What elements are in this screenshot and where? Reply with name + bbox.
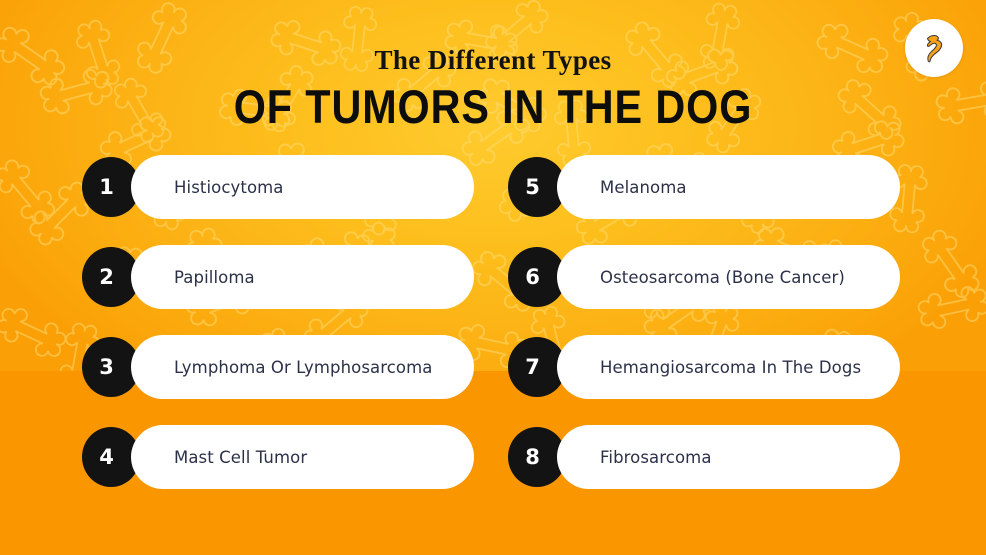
list-item[interactable]: 2 Papilloma: [82, 245, 474, 309]
item-label: Fibrosarcoma: [600, 448, 712, 467]
item-label: Papilloma: [174, 268, 255, 287]
heading-headline: OF TUMORS IN THE DOG: [59, 83, 927, 130]
item-number: 2: [99, 267, 114, 288]
item-label: Melanoma: [600, 178, 687, 197]
item-number: 7: [525, 357, 540, 378]
item-label: Osteosarcoma (Bone Cancer): [600, 268, 845, 287]
tumor-list-right-column: 5 Melanoma 6 Osteosarcoma (Bone Cancer) …: [508, 155, 900, 515]
item-pill[interactable]: Fibrosarcoma: [557, 425, 900, 489]
list-item[interactable]: 3 Lymphoma Or Lymphosarcoma: [82, 335, 474, 399]
tumor-list-left-column: 1 Histiocytoma 2 Papilloma 3 Lymphoma Or…: [82, 155, 474, 515]
list-item[interactable]: 1 Histiocytoma: [82, 155, 474, 219]
item-number: 1: [99, 177, 114, 198]
item-label: Histiocytoma: [174, 178, 284, 197]
item-pill[interactable]: Histiocytoma: [131, 155, 474, 219]
item-label: Hemangiosarcoma In The Dogs: [600, 358, 861, 377]
item-pill[interactable]: Papilloma: [131, 245, 474, 309]
item-number: 4: [99, 447, 114, 468]
list-item[interactable]: 4 Mast Cell Tumor: [82, 425, 474, 489]
list-item[interactable]: 5 Melanoma: [508, 155, 900, 219]
item-number: 5: [525, 177, 540, 198]
item-number: 6: [525, 267, 540, 288]
list-item[interactable]: 7 Hemangiosarcoma In The Dogs: [508, 335, 900, 399]
list-item[interactable]: 6 Osteosarcoma (Bone Cancer): [508, 245, 900, 309]
item-pill[interactable]: Lymphoma Or Lymphosarcoma: [131, 335, 474, 399]
item-number: 3: [99, 357, 114, 378]
poster-heading: The Different Types OF TUMORS IN THE DOG: [0, 47, 986, 130]
item-pill[interactable]: Hemangiosarcoma In The Dogs: [557, 335, 900, 399]
item-pill[interactable]: Melanoma: [557, 155, 900, 219]
item-pill[interactable]: Osteosarcoma (Bone Cancer): [557, 245, 900, 309]
item-label: Lymphoma Or Lymphosarcoma: [174, 358, 433, 377]
item-label: Mast Cell Tumor: [174, 448, 307, 467]
item-pill[interactable]: Mast Cell Tumor: [131, 425, 474, 489]
infographic-poster: The Different Types OF TUMORS IN THE DOG…: [0, 0, 986, 555]
heading-eyebrow: The Different Types: [0, 47, 986, 74]
item-number: 8: [525, 447, 540, 468]
list-item[interactable]: 8 Fibrosarcoma: [508, 425, 900, 489]
